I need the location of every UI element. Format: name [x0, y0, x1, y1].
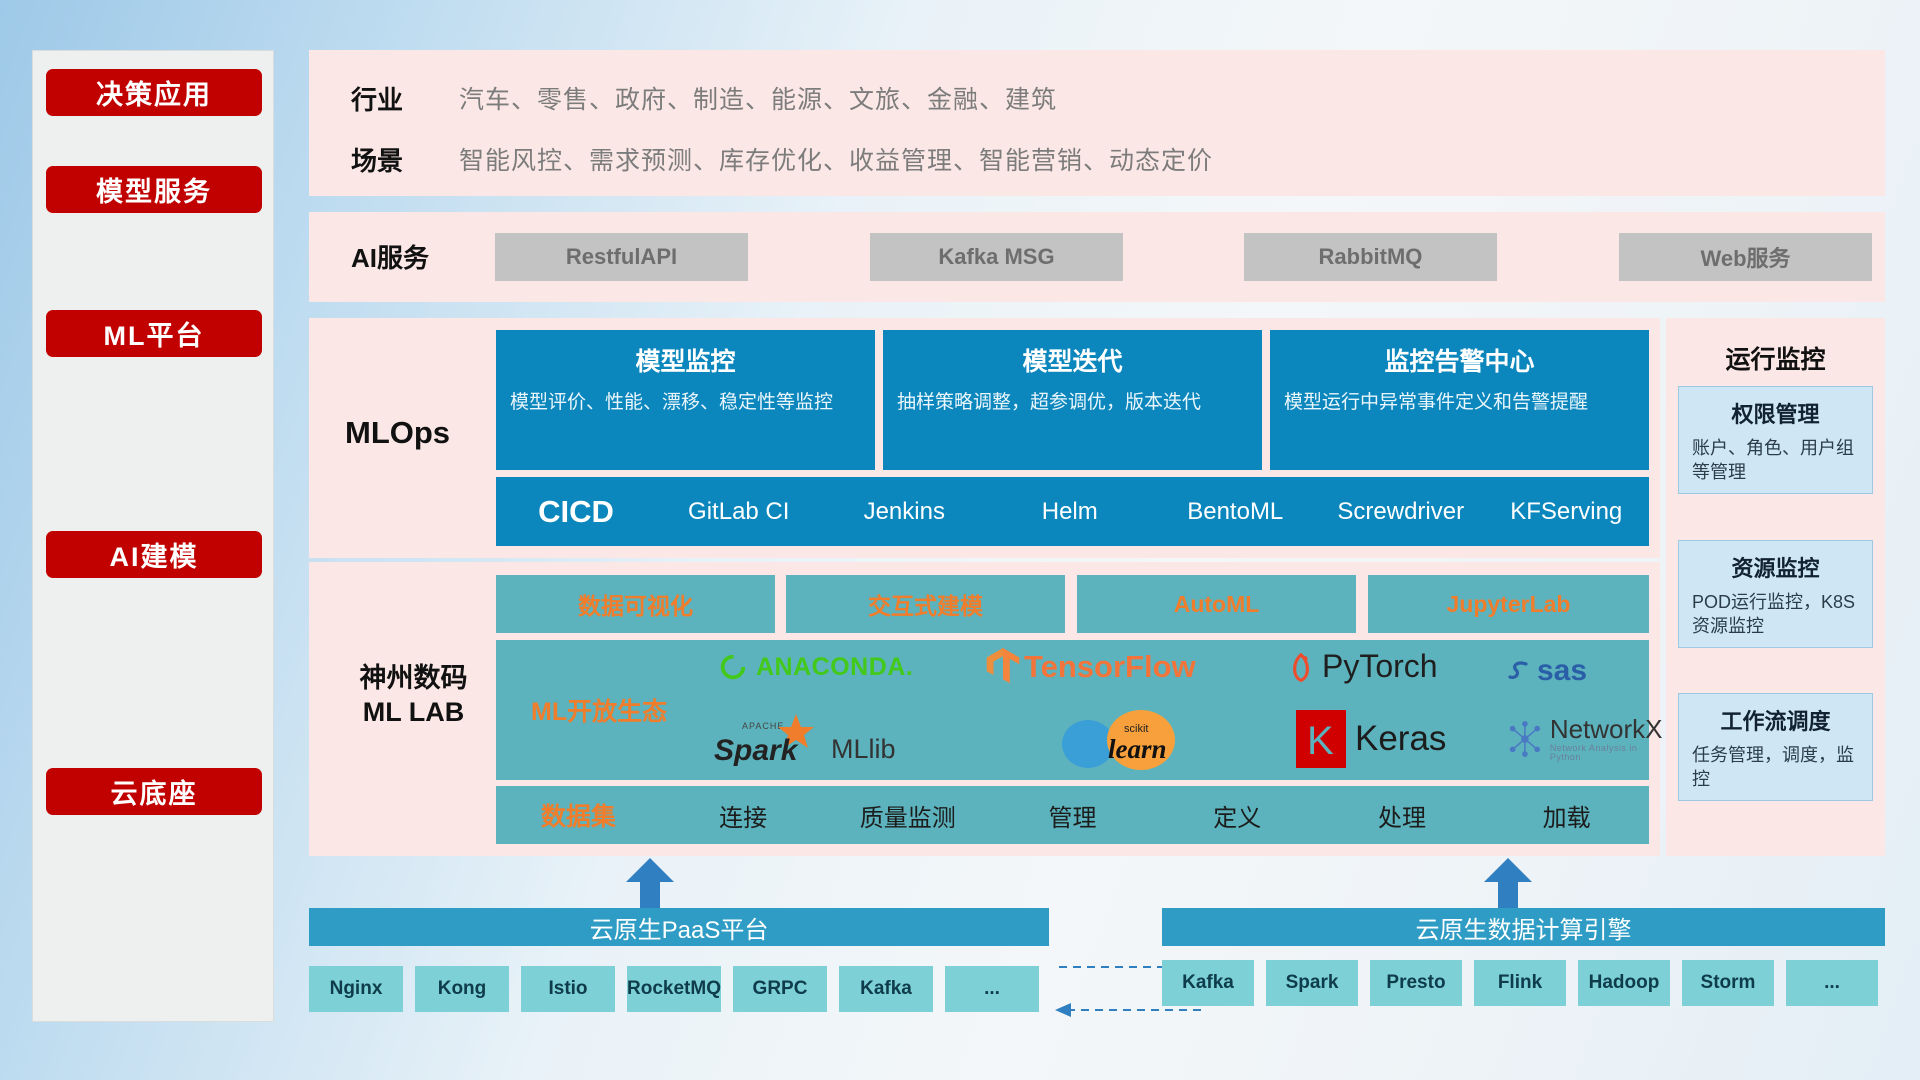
cloud-paas-title: 云原生PaaS平台: [590, 910, 769, 945]
rail-item-label: 决策应用: [96, 73, 212, 112]
cicd-label: CICD: [496, 494, 656, 530]
ml-ecosystem-label: ML开放生态: [531, 692, 667, 728]
rail-item-label: AI建模: [110, 535, 199, 574]
tab-interactive-modeling[interactable]: 交互式建模: [786, 575, 1065, 633]
industry-value: 汽车、零售、政府、制造、能源、文旅、金融、建筑: [459, 80, 1057, 116]
ml-lab-label-line1: 神州数码: [331, 662, 496, 696]
ml-lab-band: 神州数码 ML LAB 数据可视化 交互式建模 AutoML JupyterLa…: [309, 562, 1660, 856]
anaconda-icon: [718, 652, 748, 682]
tab-automl[interactable]: AutoML: [1077, 575, 1356, 633]
monitor-card-permission[interactable]: 权限管理 账户、角色、用户组等管理: [1678, 386, 1873, 494]
rail-item-ai-modeling[interactable]: AI建模: [46, 531, 262, 578]
spark-icon: APACHE Spark: [714, 712, 822, 770]
cicd-item-screwdriver[interactable]: Screwdriver: [1318, 498, 1484, 526]
rail-item-decision[interactable]: 决策应用: [46, 69, 262, 116]
chip-kong[interactable]: Kong: [415, 966, 509, 1012]
cloud-paas-bar[interactable]: 云原生PaaS平台: [309, 908, 1049, 946]
mlops-card-alert-center[interactable]: 监控告警中心 模型运行中异常事件定义和告警提醒: [1270, 330, 1649, 470]
chip-more-engine[interactable]: ...: [1786, 960, 1878, 1006]
cloud-right-group: 云原生数据计算引擎 Kafka Spark Presto Flink Hadoo…: [1162, 908, 1885, 1006]
tab-jupyterlab[interactable]: JupyterLab: [1368, 575, 1649, 633]
arrow-up-left-icon: [620, 858, 680, 908]
left-rail: 决策应用 模型服务 ML平台 AI建模 云底座: [32, 50, 274, 1022]
cloud-left-group: 云原生PaaS平台 Nginx Kong Istio RocketMQ GRPC…: [309, 908, 1049, 1012]
logo-scikit-learn: scikit learn: [1056, 710, 1231, 772]
arrow-up-right-icon: [1478, 858, 1538, 908]
industry-label: 行业: [309, 80, 459, 117]
pytorch-icon: [1286, 650, 1316, 684]
scene-label: 场景: [309, 141, 459, 178]
tab-label: JupyterLab: [1447, 591, 1571, 618]
cicd-item-kfserving[interactable]: KFServing: [1484, 498, 1650, 526]
pill-label: RabbitMQ: [1319, 244, 1423, 270]
logo-anaconda-text: ANACONDA.: [756, 653, 913, 682]
logo-tensorflow-text: TensorFlow: [1024, 649, 1196, 685]
rail-item-label: 云底座: [111, 772, 198, 811]
cloud-engine-bar[interactable]: 云原生数据计算引擎: [1162, 908, 1885, 946]
logo-keras-text: Keras: [1355, 719, 1446, 759]
scene-row: 场景 智能风控、需求预测、库存优化、收益管理、智能营销、动态定价: [309, 135, 1885, 183]
rail-item-model-service[interactable]: 模型服务: [46, 166, 262, 213]
rail-item-label: 模型服务: [96, 170, 212, 209]
logo-networkx: NetworkX Network Analysis in Python: [1506, 716, 1665, 762]
chip-hadoop[interactable]: Hadoop: [1578, 960, 1670, 1006]
chip-presto[interactable]: Presto: [1370, 960, 1462, 1006]
networkx-icon: [1506, 719, 1544, 759]
monitor-card-resource[interactable]: 资源监控 POD运行监控，K8S资源监控: [1678, 540, 1873, 648]
ai-service-web[interactable]: Web服务: [1619, 233, 1872, 281]
cicd-item-gitlab-ci[interactable]: GitLab CI: [656, 498, 822, 526]
industry-row: 行业 汽车、零售、政府、制造、能源、文旅、金融、建筑: [309, 74, 1885, 122]
tab-label: 交互式建模: [868, 587, 983, 621]
tab-label: 数据可视化: [578, 587, 693, 621]
logo-spark-mllib: APACHE Spark MLlib: [714, 712, 896, 770]
chip-spark[interactable]: Spark: [1266, 960, 1358, 1006]
rail-item-ml-platform[interactable]: ML平台: [46, 310, 262, 357]
dataset-label: 数据集: [496, 797, 661, 833]
dataset-item-quality[interactable]: 质量监测: [825, 798, 990, 833]
logo-mllib-text: MLlib: [831, 734, 896, 765]
ai-service-restfulapi[interactable]: RestfulAPI: [495, 233, 748, 281]
svg-text:K: K: [1307, 719, 1334, 763]
logo-sas-text: sas: [1537, 654, 1587, 688]
monitor-title: 运行监控: [1666, 340, 1885, 376]
rail-item-label: ML平台: [104, 314, 205, 353]
chip-istio[interactable]: Istio: [521, 966, 615, 1012]
cicd-row: CICD GitLab CI Jenkins Helm BentoML Scre…: [496, 477, 1649, 546]
logo-keras: K Keras: [1296, 710, 1446, 768]
card-desc: 抽样策略调整，超参调优，版本迭代: [897, 390, 1248, 416]
chip-rocketmq[interactable]: RocketMQ: [627, 966, 721, 1012]
dataset-item-connect[interactable]: 连接: [661, 798, 826, 833]
dataset-item-define[interactable]: 定义: [1155, 798, 1320, 833]
chip-flink[interactable]: Flink: [1474, 960, 1566, 1006]
keras-icon: K: [1296, 710, 1346, 768]
chip-nginx[interactable]: Nginx: [309, 966, 403, 1012]
monitor-card-desc: 账户、角色、用户组等管理: [1692, 436, 1859, 485]
monitor-card-title: 资源监控: [1692, 551, 1859, 583]
dataset-item-manage[interactable]: 管理: [990, 798, 1155, 833]
dataset-item-load[interactable]: 加载: [1484, 798, 1649, 833]
diagram-canvas: 决策应用 模型服务 ML平台 AI建模 云底座 行业 汽车、零售、政府、制造、能…: [0, 0, 1920, 1080]
cloud-engine-title: 云原生数据计算引擎: [1416, 910, 1632, 945]
ml-lab-label-line2: ML LAB: [331, 696, 496, 730]
logo-networkx-text: NetworkX: [1550, 716, 1665, 742]
logo-pytorch-text: PyTorch: [1322, 648, 1438, 685]
monitor-column: 运行监控 权限管理 账户、角色、用户组等管理 资源监控 POD运行监控，K8S资…: [1666, 318, 1885, 856]
rail-item-cloud-base[interactable]: 云底座: [46, 768, 262, 815]
logo-anaconda: ANACONDA.: [718, 652, 913, 682]
card-desc: 模型运行中异常事件定义和告警提醒: [1284, 390, 1635, 416]
cicd-item-bentoml[interactable]: BentoML: [1153, 498, 1319, 526]
monitor-card-desc: 任务管理，调度，监控: [1692, 743, 1859, 792]
svg-text:learn: learn: [1108, 734, 1167, 764]
pill-label: Web服务: [1700, 241, 1790, 273]
dataset-row: 数据集 连接 质量监测 管理 定义 处理 加载: [496, 786, 1649, 844]
ml-ecosystem-panel: ML开放生态 ANACONDA. TensorFlow: [496, 640, 1649, 780]
tab-label: AutoML: [1174, 591, 1260, 618]
mlops-card-model-iteration[interactable]: 模型迭代 抽样策略调整，超参调优，版本迭代: [883, 330, 1262, 470]
pill-label: RestfulAPI: [566, 244, 677, 270]
cloud-engine-chips: Kafka Spark Presto Flink Hadoop Storm ..…: [1162, 960, 1885, 1006]
scene-value: 智能风控、需求预测、库存优化、收益管理、智能营销、动态定价: [459, 141, 1213, 177]
chip-storm[interactable]: Storm: [1682, 960, 1774, 1006]
tensorflow-icon: [986, 648, 1020, 686]
ai-service-band: AI服务 RestfulAPI Kafka MSG RabbitMQ Web服务: [309, 212, 1885, 302]
logo-tensorflow: TensorFlow: [986, 648, 1196, 686]
monitor-card-workflow[interactable]: 工作流调度 任务管理，调度，监控: [1678, 693, 1873, 801]
decision-band: 行业 汽车、零售、政府、制造、能源、文旅、金融、建筑 场景 智能风控、需求预测、…: [309, 50, 1885, 196]
chip-kafka[interactable]: Kafka: [839, 966, 933, 1012]
pill-label: Kafka MSG: [938, 244, 1054, 270]
ai-service-kafka-msg[interactable]: Kafka MSG: [870, 233, 1123, 281]
logo-networkx-tagline: Network Analysis in Python: [1550, 744, 1665, 762]
cloud-paas-chips: Nginx Kong Istio RocketMQ GRPC Kafka ...: [309, 966, 1049, 1012]
ai-service-rabbitmq[interactable]: RabbitMQ: [1244, 233, 1497, 281]
logo-pytorch: PyTorch: [1286, 648, 1438, 685]
chip-more[interactable]: ...: [945, 966, 1039, 1012]
monitor-card-desc: POD运行监控，K8S资源监控: [1692, 590, 1859, 639]
chip-kafka-engine[interactable]: Kafka: [1162, 960, 1254, 1006]
mlops-card-model-monitor[interactable]: 模型监控 模型评价、性能、漂移、稳定性等监控: [496, 330, 875, 470]
sas-icon: [1506, 657, 1534, 685]
svg-text:APACHE: APACHE: [742, 721, 784, 731]
cicd-item-helm[interactable]: Helm: [987, 498, 1153, 526]
svg-text:Spark: Spark: [714, 734, 799, 767]
chip-grpc[interactable]: GRPC: [733, 966, 827, 1012]
monitor-card-title: 工作流调度: [1692, 704, 1859, 736]
logo-sas: sas: [1506, 654, 1587, 688]
ml-lab-label: 神州数码 ML LAB: [331, 662, 496, 730]
dataset-item-process[interactable]: 处理: [1320, 798, 1485, 833]
tab-data-visualization[interactable]: 数据可视化: [496, 575, 775, 633]
mlops-band: MLOps 模型监控 模型评价、性能、漂移、稳定性等监控 模型迭代 抽样策略调整…: [309, 318, 1660, 558]
card-desc: 模型评价、性能、漂移、稳定性等监控: [510, 390, 861, 416]
ai-service-label: AI服务: [351, 242, 429, 275]
monitor-card-title: 权限管理: [1692, 397, 1859, 429]
scikit-learn-icon: scikit learn: [1056, 710, 1231, 772]
cicd-item-jenkins[interactable]: Jenkins: [822, 498, 988, 526]
card-title: 模型迭代: [897, 342, 1248, 378]
card-title: 监控告警中心: [1284, 342, 1635, 378]
mlops-label: MLOps: [345, 414, 450, 453]
card-title: 模型监控: [510, 342, 861, 378]
